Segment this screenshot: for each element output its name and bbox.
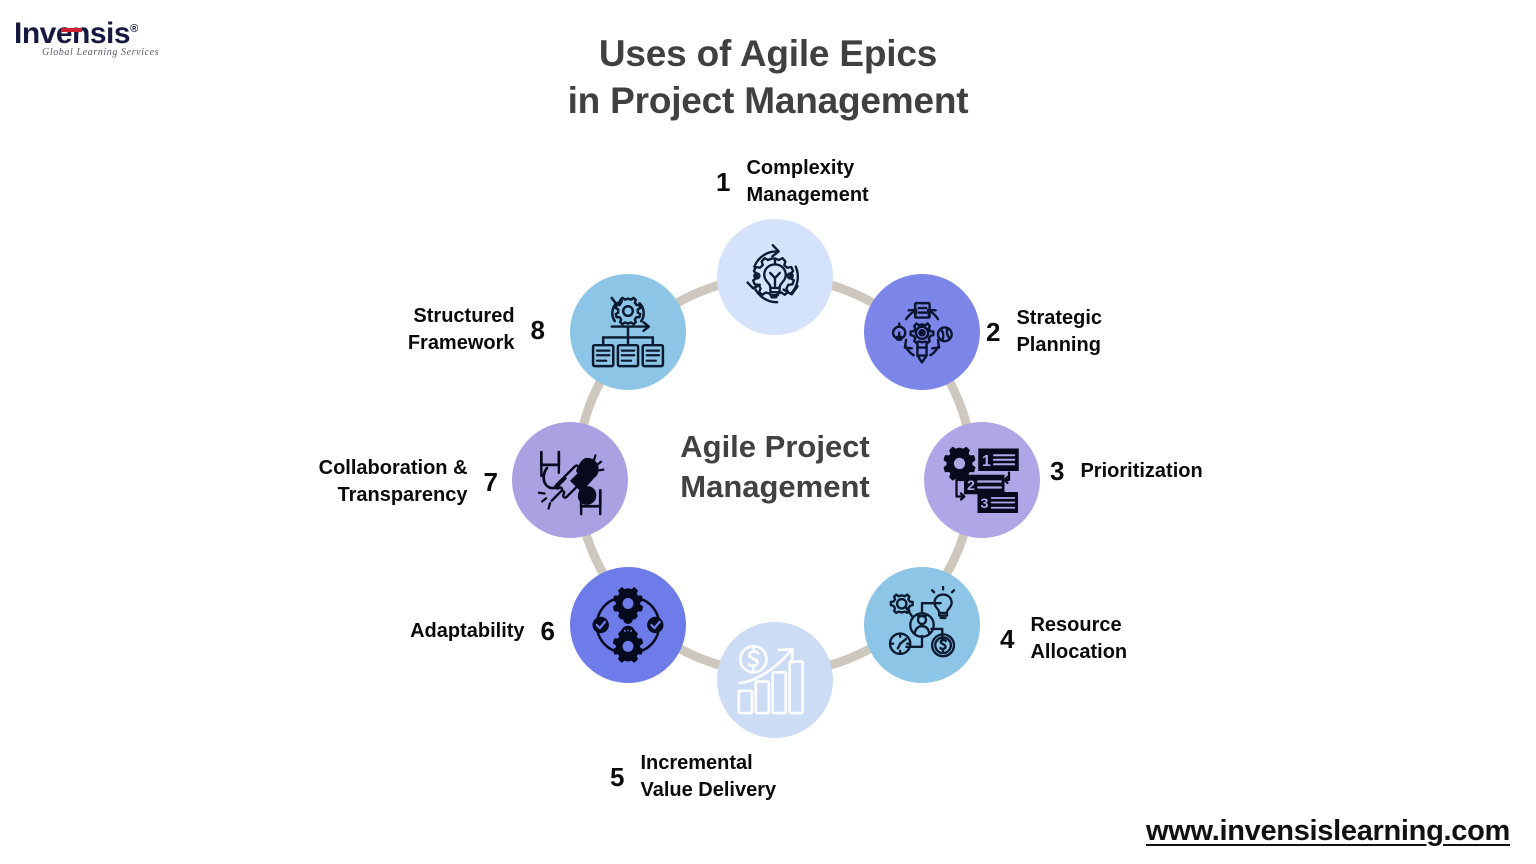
website-url-link[interactable]: www.invensislearning.com — [1146, 815, 1510, 848]
callout-label-6: Adaptability — [410, 618, 524, 645]
callout-label-1: Complexity Management — [746, 155, 868, 209]
callout-number-2: 2 — [986, 319, 1000, 345]
callout-number-5: 5 — [610, 764, 624, 790]
callout-number-6: 6 — [541, 618, 555, 644]
growth-chart-dollar-icon — [735, 642, 815, 718]
node-circle-8[interactable] — [570, 274, 686, 390]
callout-5: 5 Incremental Value Delivery — [610, 750, 776, 804]
center-label-line-2: Management — [625, 467, 925, 507]
node-circle-1[interactable] — [717, 219, 833, 335]
strategy-pencil-gear-icon — [884, 294, 960, 370]
callout-4: 4 Resource Allocation — [1000, 612, 1127, 666]
node-circle-4[interactable] — [864, 567, 980, 683]
node-circle-5[interactable] — [717, 622, 833, 738]
callout-label-2: Strategic Planning — [1016, 305, 1102, 359]
priority-list-gear-icon: 1 2 3 — [943, 443, 1021, 517]
resource-allocation-icon — [883, 586, 961, 664]
callout-label-7: Collaboration & Transparency — [319, 455, 468, 509]
puzzle-collaboration-icon — [530, 441, 610, 519]
center-label-line-1: Agile Project — [625, 427, 925, 467]
node-circle-7[interactable] — [512, 422, 628, 538]
callout-8: Structured Framework 8 — [330, 303, 545, 357]
callout-7: Collaboration & Transparency 7 — [248, 455, 498, 509]
node-circle-3[interactable]: 1 2 3 — [924, 422, 1040, 538]
svg-text:1: 1 — [982, 453, 991, 470]
callout-number-3: 3 — [1050, 458, 1064, 484]
callout-number-1: 1 — [716, 169, 730, 195]
callout-number-8: 8 — [531, 317, 545, 343]
svg-text:2: 2 — [967, 478, 975, 494]
callout-label-3: Prioritization — [1080, 458, 1202, 485]
center-label: Agile Project Management — [625, 427, 925, 508]
callout-label-8: Structured Framework — [408, 303, 515, 357]
callout-3: 3 Prioritization — [1050, 458, 1203, 485]
callout-number-4: 4 — [1000, 626, 1014, 652]
adaptability-gears-person-icon — [589, 586, 667, 664]
callout-1: 1 Complexity Management — [716, 155, 869, 209]
node-circle-6[interactable] — [570, 567, 686, 683]
framework-hierarchy-gear-icon — [589, 294, 667, 370]
callout-6: Adaptability 6 — [355, 618, 555, 645]
callout-label-5: Incremental Value Delivery — [640, 750, 776, 804]
callout-2: 2 Strategic Planning — [986, 305, 1102, 359]
callout-label-4: Resource Allocation — [1030, 612, 1127, 666]
gear-lightbulb-cycle-icon — [738, 240, 812, 314]
node-circle-2[interactable] — [864, 274, 980, 390]
callout-number-7: 7 — [484, 469, 498, 495]
cycle-diagram: Agile Project Management — [0, 0, 1536, 864]
svg-text:3: 3 — [981, 496, 989, 512]
